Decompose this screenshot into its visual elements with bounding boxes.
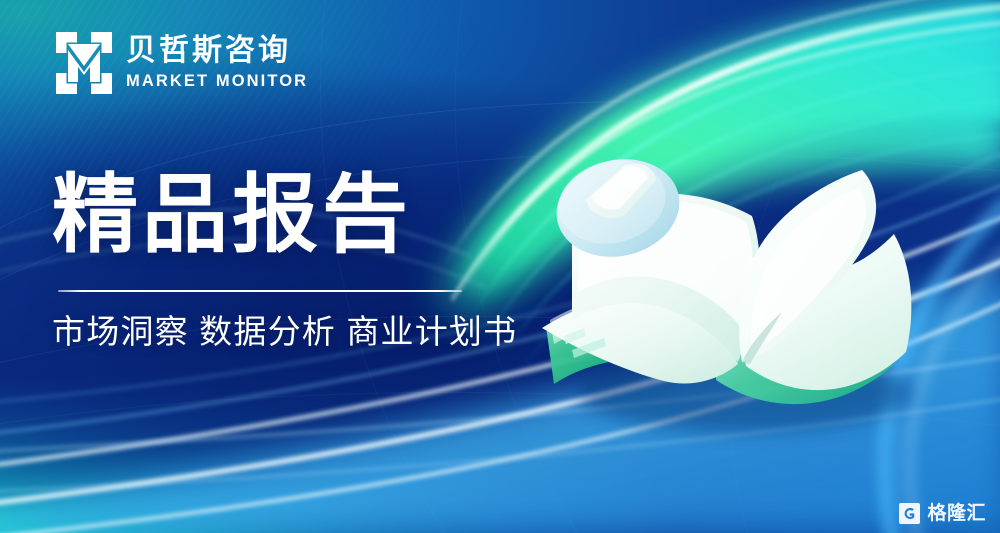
report-banner: 贝哲斯咨询 MARKET MONITOR 精品报告 市场洞察 数据分析 商业计划… xyxy=(0,0,1000,533)
brand-wordmark: 贝哲斯咨询 MARKET MONITOR xyxy=(126,35,308,91)
bracket-m-monogram-icon xyxy=(56,32,112,94)
gelonghui-g-logo-icon xyxy=(899,503,920,524)
horizontal-rule-icon xyxy=(58,290,462,292)
watermark-text: 格隆汇 xyxy=(927,504,986,523)
headline-block: 精品报告 市场洞察 数据分析 商业计划书 xyxy=(52,172,522,351)
brand-name-en: MARKET MONITOR xyxy=(126,72,308,91)
open-book-illustration xyxy=(520,130,950,440)
page-title: 精品报告 xyxy=(52,172,522,258)
watermark: 格隆汇 xyxy=(899,503,986,524)
brand-name-cn: 贝哲斯咨询 xyxy=(126,35,308,67)
brand-logo: 贝哲斯咨询 MARKET MONITOR xyxy=(56,32,308,94)
subtitle: 市场洞察 数据分析 商业计划书 xyxy=(52,314,522,351)
